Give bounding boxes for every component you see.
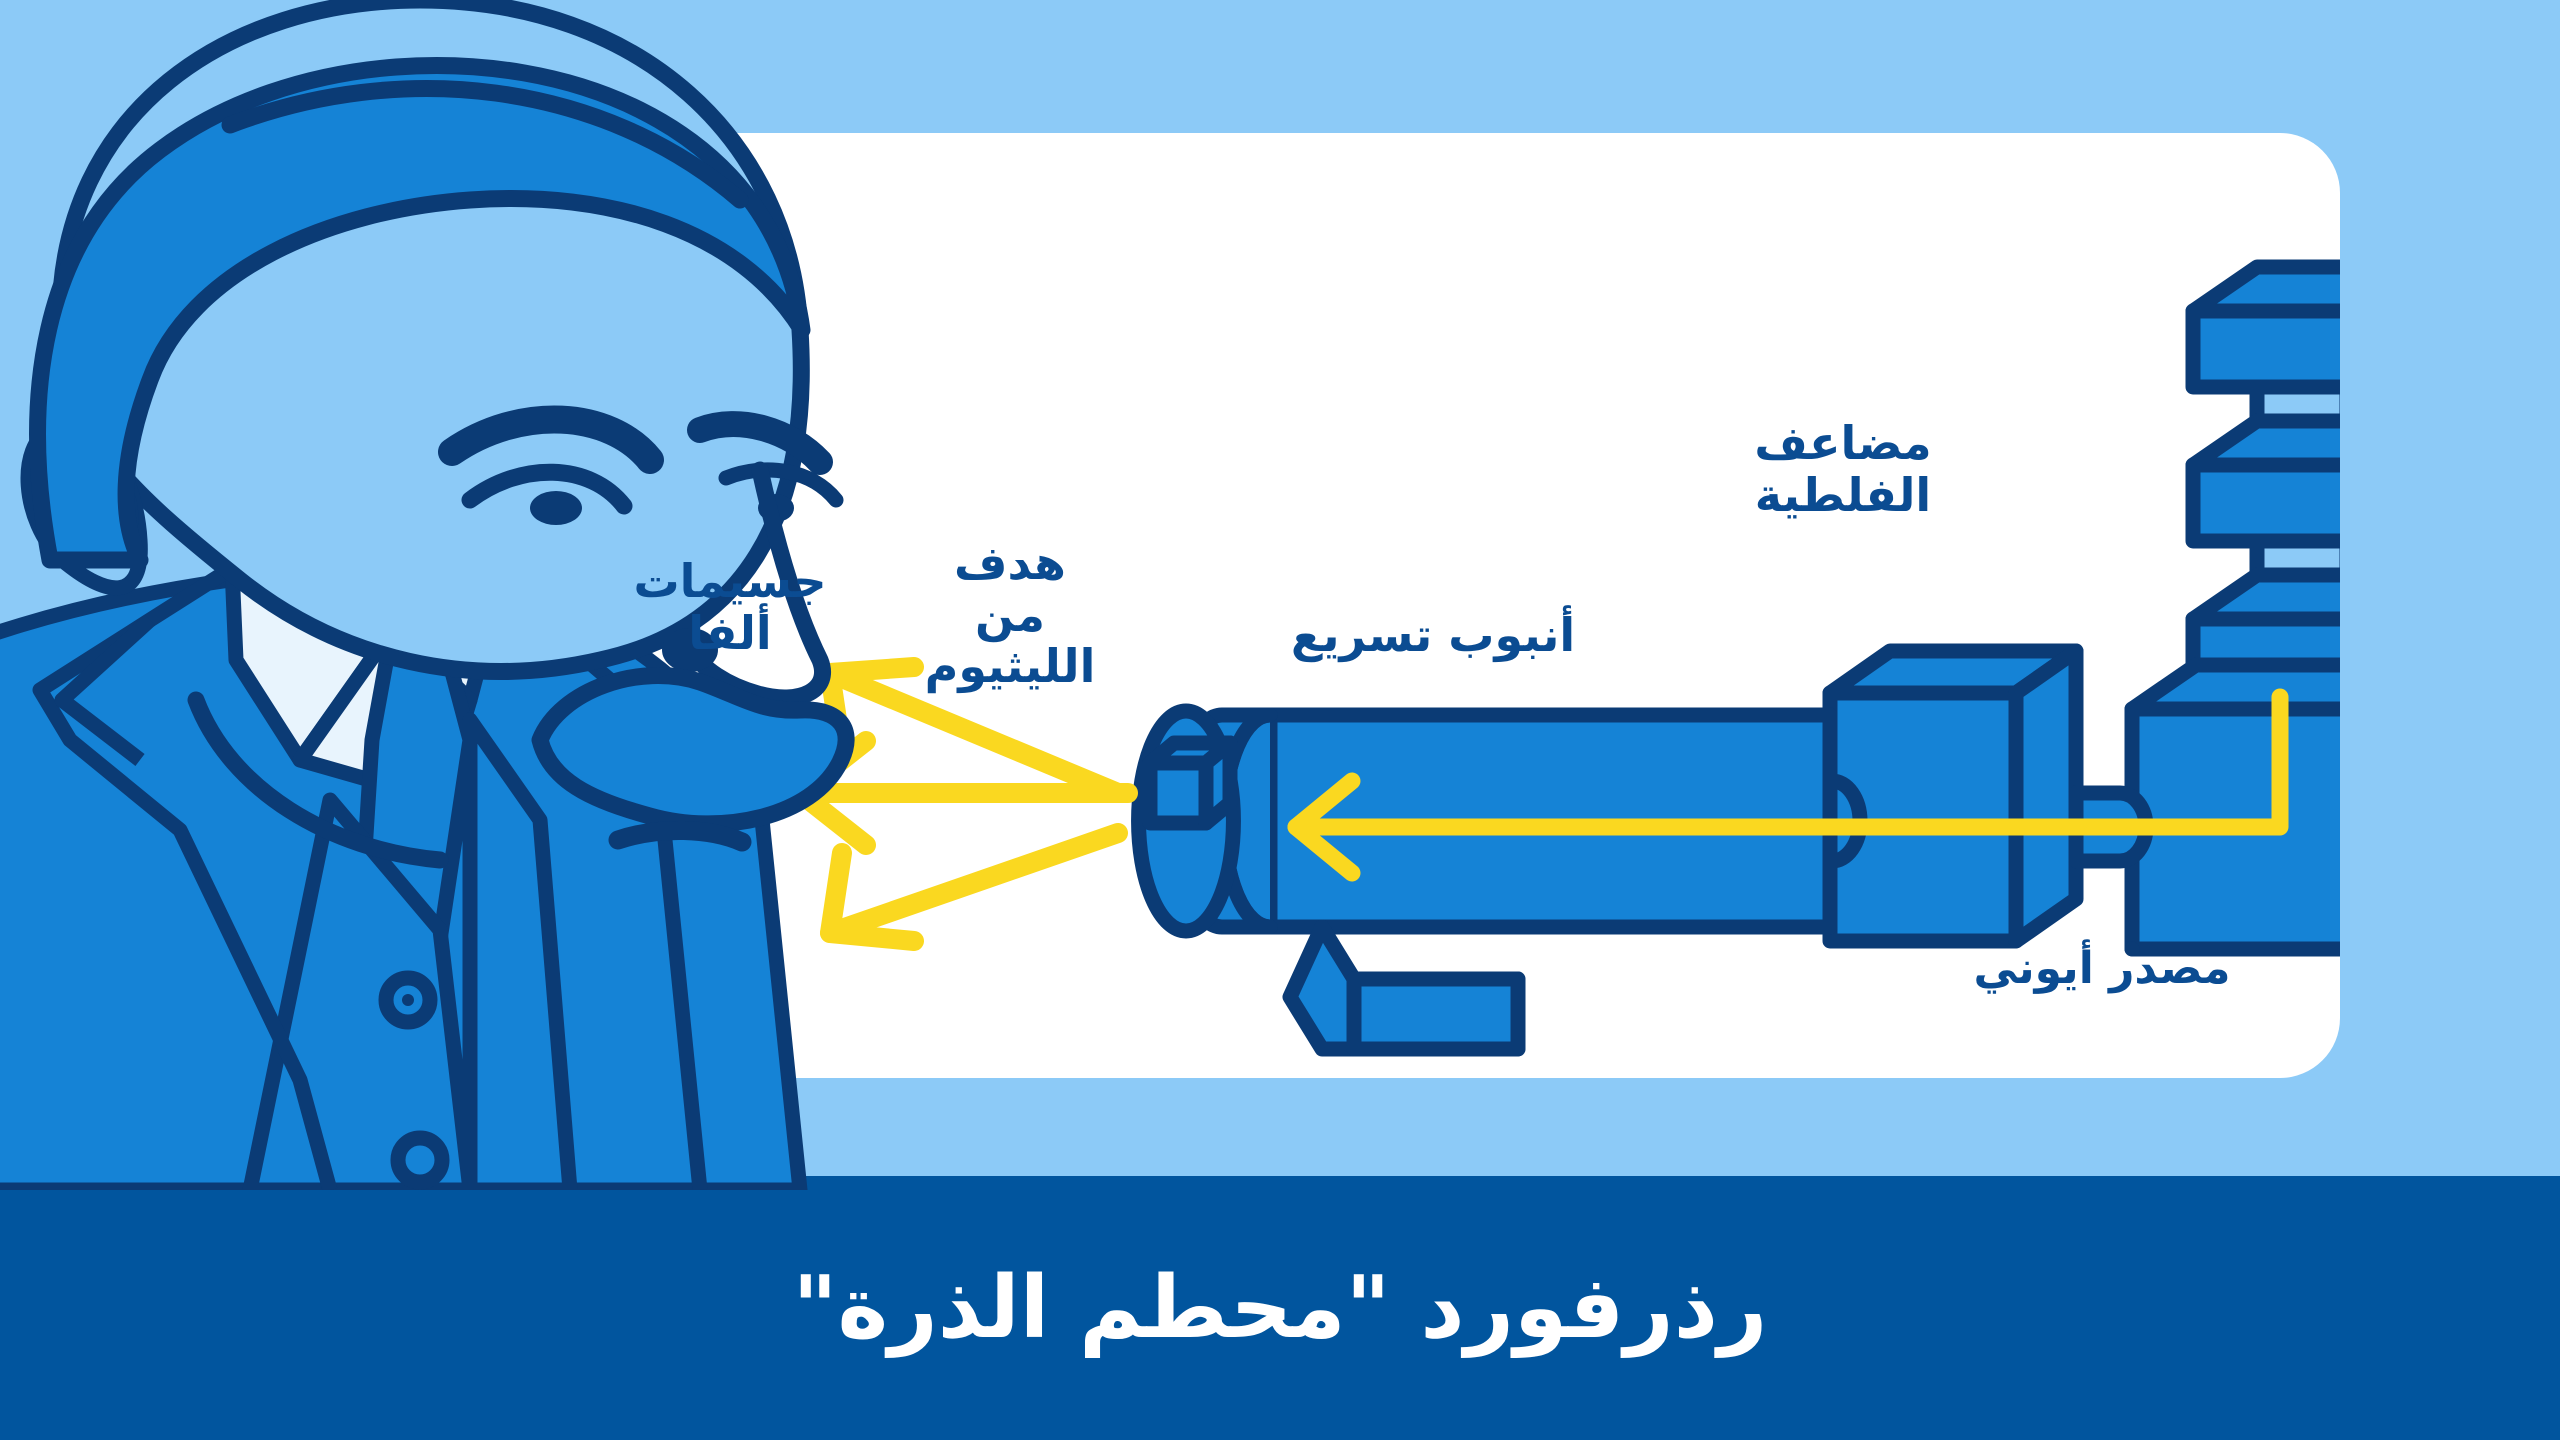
- label-ion-source: مصدر أيوني: [1952, 944, 2252, 993]
- multiplier-plate-2: [2193, 421, 2340, 541]
- lithium-target-cube: [1150, 743, 1230, 823]
- label-alpha-particles: جسيمات ألفا: [600, 556, 860, 659]
- caption-band: رذرفورد "محطم الذرة": [0, 1176, 2560, 1440]
- multiplier-plate-1: [2193, 267, 2340, 387]
- label-accelerator-tube: أنبوب تسريع: [1268, 610, 1598, 662]
- label-lithium-target: هدف من الليثيوم: [915, 538, 1105, 693]
- label-voltage-multiplier: مضاعف الفلطية: [1718, 418, 1968, 521]
- infographic-canvas: جسيمات ألفا هدف من الليثيوم أنبوب تسريع …: [0, 0, 2560, 1440]
- accelerator-tube: [1139, 711, 1830, 1049]
- caption-title: رذرفورد "محطم الذرة": [793, 1263, 1768, 1353]
